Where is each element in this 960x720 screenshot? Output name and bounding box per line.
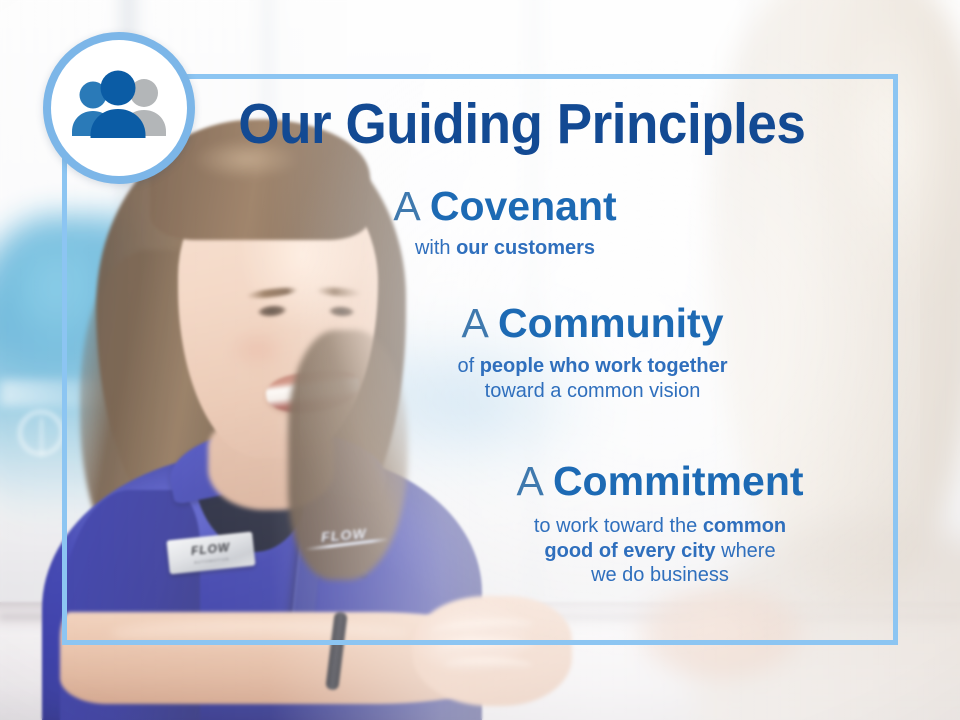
principle-subtext: of people who work together toward a com…: [390, 354, 795, 404]
principle-subtext: to work toward the common good of every …: [440, 514, 880, 588]
principle-commitment: A Commitment to work toward the common g…: [440, 461, 880, 588]
principle-subtext-line: we do business: [440, 563, 880, 588]
principle-subtext-line: to work toward the common: [440, 514, 880, 539]
principle-subtext-line: of people who work together: [390, 354, 795, 379]
guiding-principles-icon-badge: [43, 32, 195, 184]
principle-subtext-emphasis: common: [703, 515, 786, 537]
principle-heading: A Community: [390, 303, 795, 345]
principle-keyword: Community: [498, 300, 724, 346]
principle-covenant: A Covenant with our customers: [330, 186, 680, 261]
page-title: Our Guiding Principles: [215, 96, 829, 153]
principle-article: A: [516, 458, 541, 504]
principle-subtext-emphasis: good of every city: [544, 540, 715, 562]
principle-subtext: with our customers: [330, 236, 680, 261]
principle-subtext-emphasis: people who work together: [480, 355, 728, 377]
principle-heading: A Covenant: [330, 186, 680, 228]
principle-subtext-emphasis: our customers: [456, 237, 595, 259]
principle-keyword: Commitment: [553, 458, 804, 504]
principle-article: A: [393, 183, 418, 229]
graphic-canvas: FLOW AUTOMOTIVE FLOW Our Guiding Princip…: [0, 0, 960, 720]
principle-keyword: Covenant: [430, 183, 617, 229]
group-of-people-icon: [65, 69, 173, 147]
principle-subtext-line: toward a common vision: [390, 379, 795, 404]
principle-heading: A Commitment: [440, 461, 880, 503]
principle-subtext-line: good of every city where: [440, 539, 880, 564]
principle-community: A Community of people who work together …: [390, 303, 795, 403]
principle-article: A: [462, 300, 487, 346]
principle-subtext-line: with our customers: [415, 237, 595, 259]
